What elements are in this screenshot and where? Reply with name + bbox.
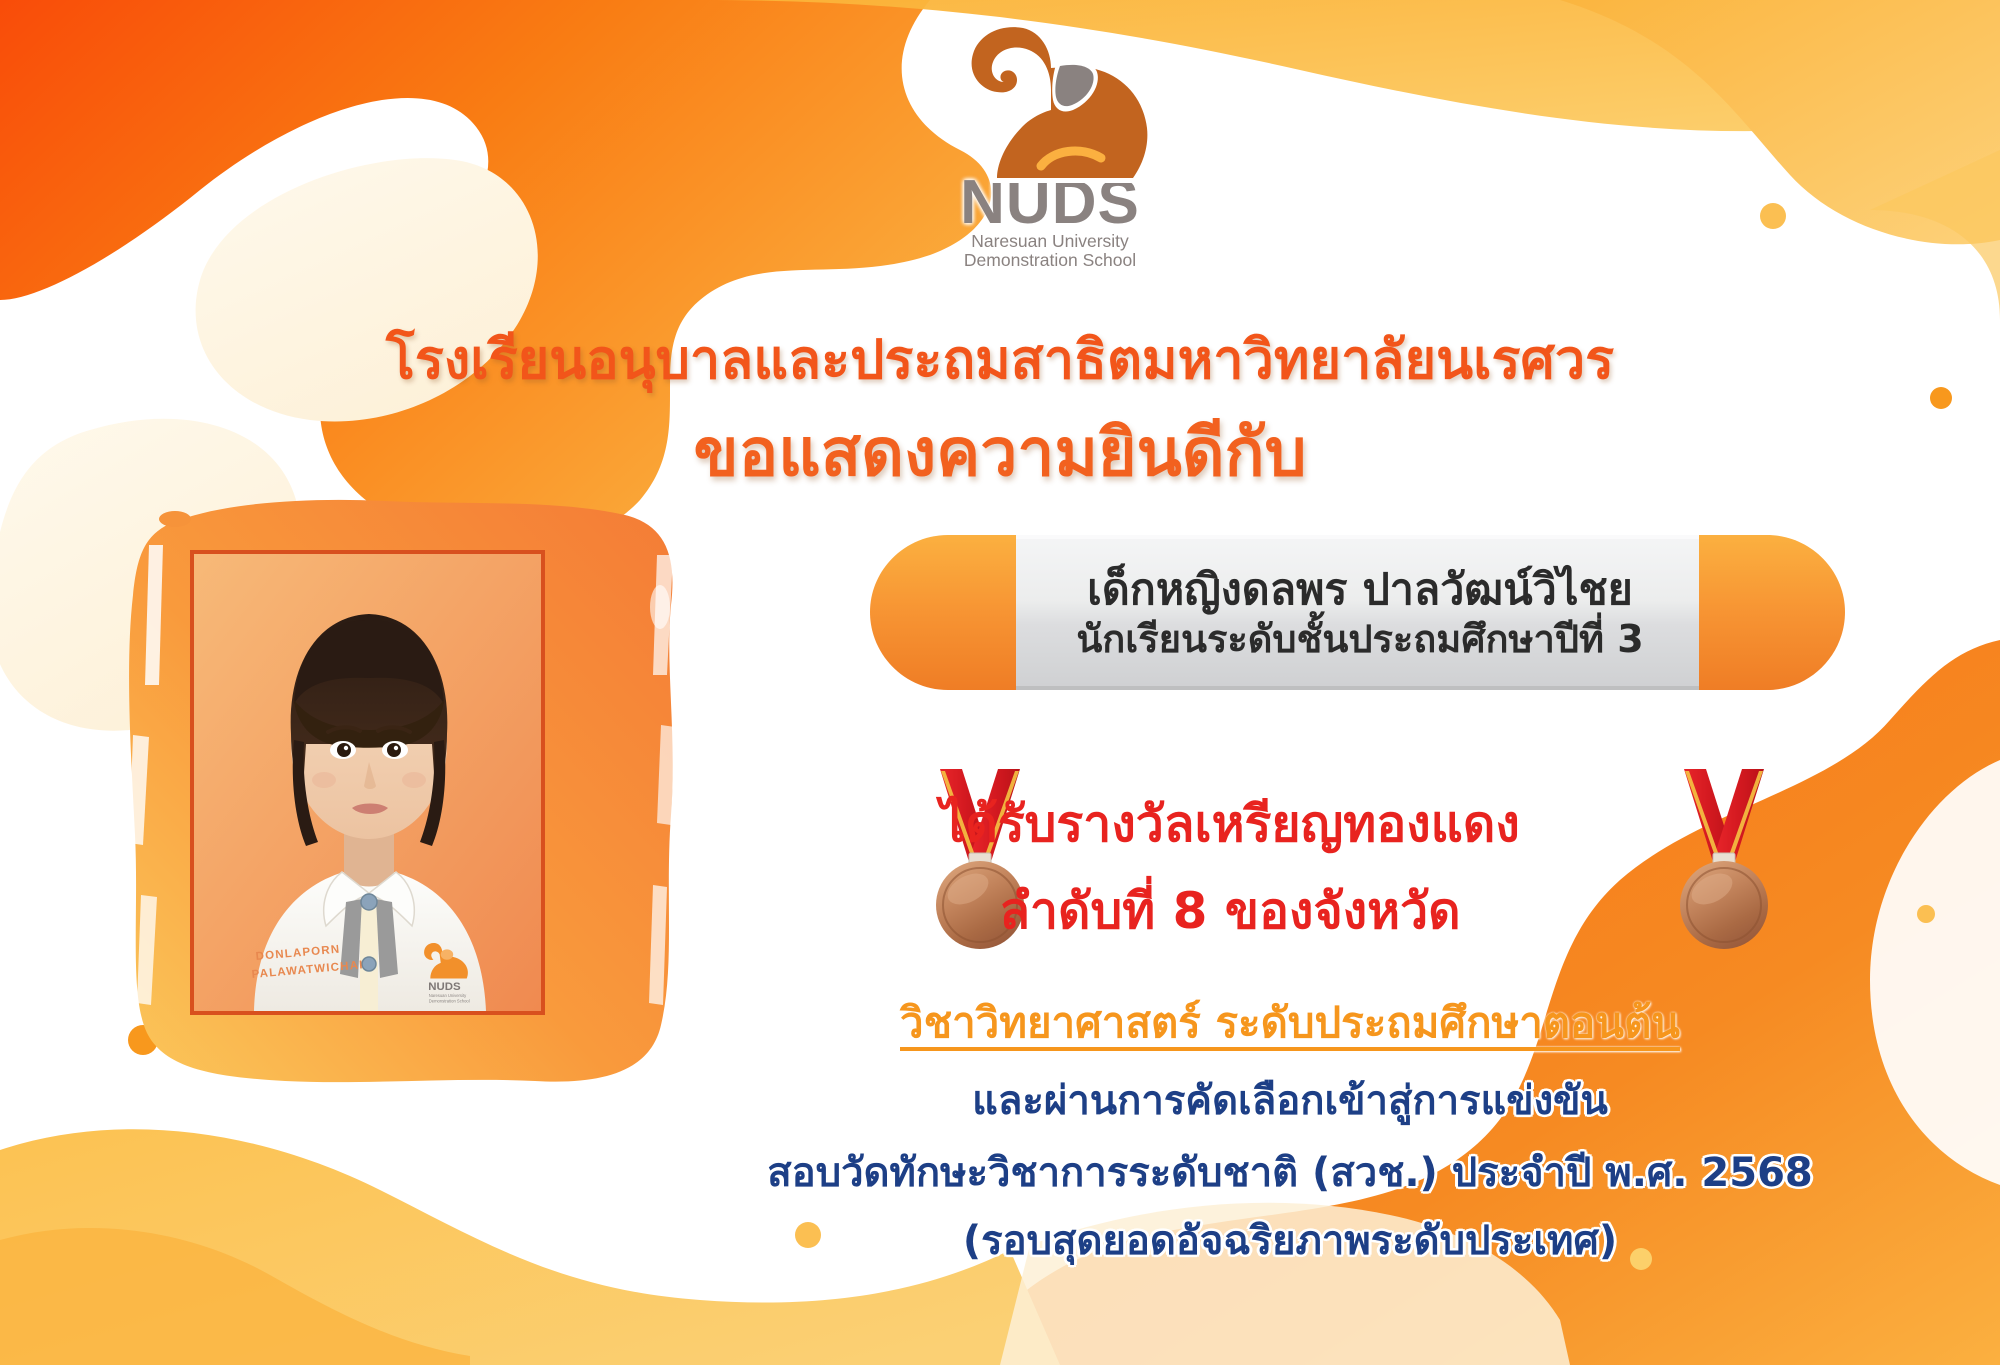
school-name-heading: โรงเรียนอนุบาลและประถมสาธิตมหาวิทยาลัยนเ… [0, 316, 2000, 402]
competition-line-2: สอบวัดทักษะวิชาการระดับชาติ (สวช.) ประจำ… [700, 1140, 1880, 1204]
svg-text:Naresuan University: Naresuan University [429, 993, 467, 998]
bg-shape-bottom-left-2 [0, 1228, 470, 1365]
medal-svg-right [1672, 765, 1777, 955]
student-portrait-image: DONLAPORN PALAWATWICHAI NUDS Naresuan Un… [194, 554, 541, 1011]
student-photo-area: DONLAPORN PALAWATWICHAI NUDS Naresuan Un… [105, 485, 705, 1105]
award-line-2: ลำดับที่ 8 ของจังหวัด [820, 872, 1640, 951]
award-line-1: ได้รับรางวัลเหรียญทองแดง [820, 785, 1640, 864]
logo-subtitle-line1: Naresuan University [905, 232, 1195, 252]
student-grade: นักเรียนระดับชั้นประถมศึกษาปีที่ 3 [1076, 616, 1643, 664]
bg-shape-top-arc [700, 0, 2000, 131]
bg-shape-white-cutin [1870, 760, 2000, 1185]
svg-text:Demonstration School: Demonstration School [429, 998, 470, 1003]
elephant-icon-svg [905, 18, 1195, 183]
decor-dot-7 [1917, 905, 1935, 923]
student-name-banner: เด็กหญิงดลพร ปาลวัฒน์วิไชย นักเรียนระดับ… [870, 535, 1845, 690]
banner-text-group: เด็กหญิงดลพร ปาลวัฒน์วิไชย นักเรียนระดับ… [1010, 551, 1710, 676]
decor-dot-1 [1760, 203, 1786, 229]
certificate-poster: NUDS Naresuan University Demonstration S… [0, 0, 2000, 1365]
school-logo: NUDS Naresuan University Demonstration S… [905, 18, 1195, 278]
bg-shape-top-right [1560, 0, 2000, 244]
svg-text:NUDS: NUDS [428, 981, 461, 993]
bronze-medal-icon-right [1672, 765, 1777, 955]
bg-shape-right-band [1870, 150, 2000, 320]
photo-frame: DONLAPORN PALAWATWICHAI NUDS Naresuan Un… [190, 550, 545, 1015]
logo-subtitle-line2: Demonstration School [905, 251, 1195, 271]
award-subject: วิชาวิทยาศาสตร์ ระดับประถมศึกษาตอนต้น [700, 990, 1880, 1056]
student-name: เด็กหญิงดลพร ปาลวัฒน์วิไชย [1087, 564, 1633, 616]
elephant-icon [905, 18, 1195, 183]
logo-acronym: NUDS [905, 177, 1195, 230]
competition-line-1: และผ่านการคัดเลือกเข้าสู่การแข่งขัน [700, 1068, 1880, 1132]
logo-subtitle: Naresuan University Demonstration School [905, 232, 1195, 271]
competition-line-3: (รอบสุดยอดอัจฉริยภาพระดับประเทศ) [700, 1208, 1880, 1272]
